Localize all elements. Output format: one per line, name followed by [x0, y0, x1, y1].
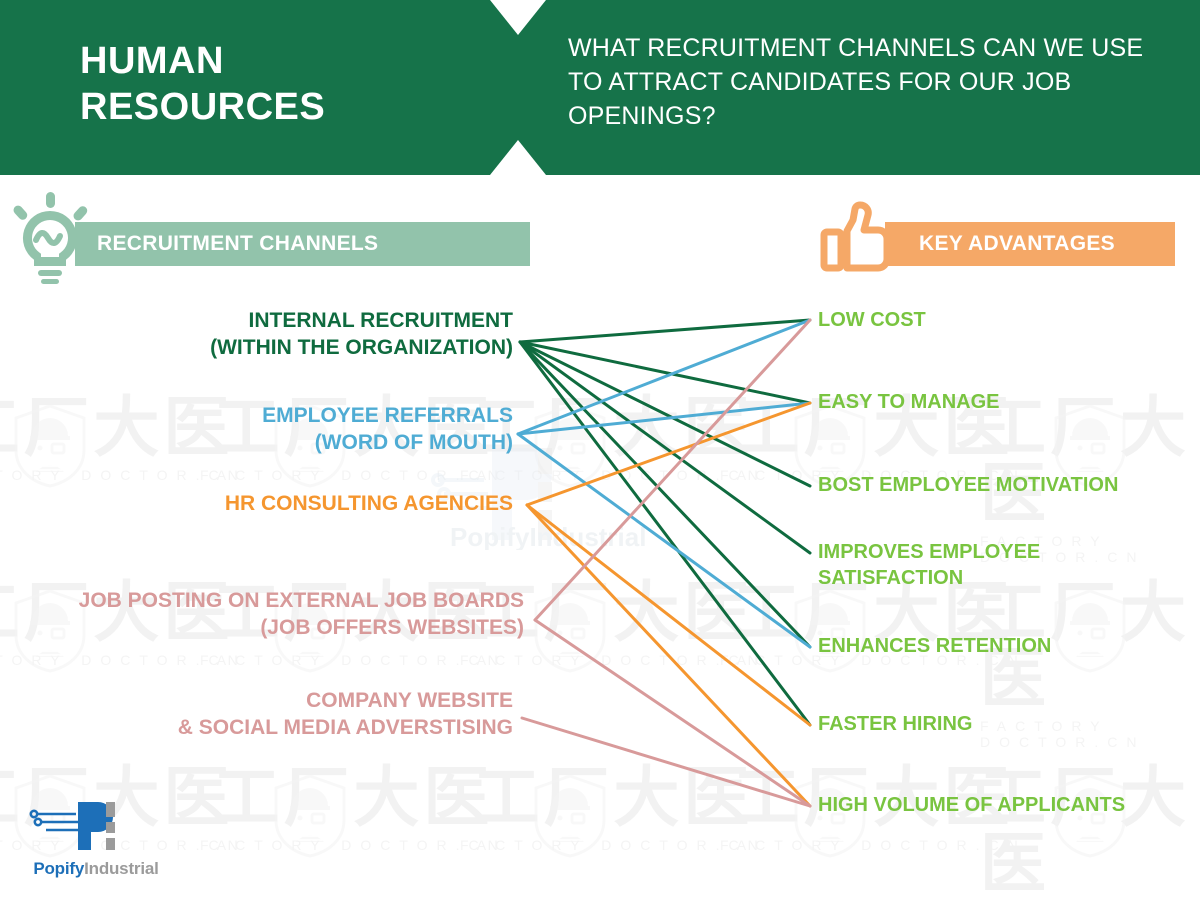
- channel-employee-referrals[interactable]: EMPLOYEE REFERRALS(WORD OF MOUTH): [0, 403, 513, 457]
- connector-hr-consulting-agencies-to-high-volume-of-applicants: [527, 505, 810, 806]
- advantage-improves-employee-satisfaction-line-2: SATISFACTION: [818, 566, 1040, 592]
- advantage-easy-to-manage-line-1: EASY TO MANAGE: [818, 390, 1000, 416]
- section-header-recruitment-channels: RECRUITMENT CHANNELS: [75, 222, 530, 266]
- lightbulb-icon: [8, 192, 92, 284]
- channel-internal-recruitment-line-2: (WITHIN THE ORGANIZATION): [0, 335, 513, 362]
- channel-hr-consulting-agencies-line-1: HR CONSULTING AGENCIES: [0, 491, 513, 518]
- section-header-left-label: RECRUITMENT CHANNELS: [97, 232, 378, 256]
- channel-job-posting-external-line-2: (JOB OFFERS WEBSITES): [0, 615, 524, 642]
- connector-job-posting-external-to-high-volume-of-applicants: [535, 620, 810, 806]
- advantage-enhances-retention[interactable]: ENHANCES RETENTION: [818, 634, 1051, 660]
- connector-internal-recruitment-to-bost-employee-motivation: [520, 342, 810, 486]
- advantage-low-cost-line-1: LOW COST: [818, 308, 926, 334]
- advantage-high-volume-of-applicants[interactable]: HIGH VOLUME OF APPLICANTS: [818, 793, 1125, 819]
- channel-company-website-social-line-1: COMPANY WEBSITE: [0, 688, 513, 715]
- connector-job-posting-external-to-low-cost: [535, 320, 810, 620]
- popify-logo-text: PopifyIndustrial: [16, 859, 176, 879]
- advantage-bost-employee-motivation[interactable]: BOST EMPLOYEE MOTIVATION: [818, 473, 1118, 499]
- page-title: HUMAN RESOURCES: [80, 38, 480, 131]
- header-notch-bottom: [490, 140, 546, 175]
- page-title-line-1: HUMAN: [80, 38, 480, 84]
- advantage-low-cost[interactable]: LOW COST: [818, 308, 926, 334]
- advantage-high-volume-of-applicants-line-1: HIGH VOLUME OF APPLICANTS: [818, 793, 1125, 819]
- channel-employee-referrals-line-1: EMPLOYEE REFERRALS: [0, 403, 513, 430]
- section-header-right-label: KEY ADVANTAGES: [919, 232, 1115, 256]
- connector-internal-recruitment-to-enhances-retention: [520, 342, 810, 647]
- popify-logo-text-primary: Popify: [33, 859, 84, 878]
- channel-internal-recruitment-line-1: INTERNAL RECRUITMENT: [0, 308, 513, 335]
- page-title-line-2: RESOURCES: [80, 84, 480, 130]
- channel-job-posting-external[interactable]: JOB POSTING ON EXTERNAL JOB BOARDS(JOB O…: [0, 588, 524, 642]
- advantage-easy-to-manage[interactable]: EASY TO MANAGE: [818, 390, 1000, 416]
- channel-internal-recruitment[interactable]: INTERNAL RECRUITMENT(WITHIN THE ORGANIZA…: [0, 308, 513, 362]
- thumbs-up-icon: [820, 198, 900, 278]
- advantage-improves-employee-satisfaction-line-1: IMPROVES EMPLOYEE: [818, 540, 1040, 566]
- section-header-key-advantages: KEY ADVANTAGES: [885, 222, 1175, 266]
- popify-industrial-logo: PopifyIndustrial: [16, 800, 176, 879]
- channel-employee-referrals-line-2: (WORD OF MOUTH): [0, 430, 513, 457]
- popify-logo-text-secondary: Industrial: [84, 859, 159, 878]
- header-notch-top: [490, 0, 546, 35]
- header-question: WHAT RECRUITMENT CHANNELS CAN WE USE TO …: [568, 32, 1178, 133]
- channel-hr-consulting-agencies[interactable]: HR CONSULTING AGENCIES: [0, 491, 513, 518]
- channel-company-website-social[interactable]: COMPANY WEBSITE& SOCIAL MEDIA ADVERSTISI…: [0, 688, 513, 742]
- advantage-enhances-retention-line-1: ENHANCES RETENTION: [818, 634, 1051, 660]
- advantage-bost-employee-motivation-line-1: BOST EMPLOYEE MOTIVATION: [818, 473, 1118, 499]
- popify-logo-mark: [16, 800, 176, 852]
- channel-job-posting-external-line-1: JOB POSTING ON EXTERNAL JOB BOARDS: [0, 588, 524, 615]
- connector-employee-referrals-to-low-cost: [518, 320, 810, 434]
- advantage-improves-employee-satisfaction[interactable]: IMPROVES EMPLOYEESATISFACTION: [818, 540, 1040, 591]
- connector-internal-recruitment-to-low-cost: [520, 320, 810, 342]
- advantage-faster-hiring[interactable]: FASTER HIRING: [818, 712, 972, 738]
- advantage-faster-hiring-line-1: FASTER HIRING: [818, 712, 972, 738]
- channel-company-website-social-line-2: & SOCIAL MEDIA ADVERSTISING: [0, 715, 513, 742]
- header-banner: HUMAN RESOURCES WHAT RECRUITMENT CHANNEL…: [0, 0, 1200, 175]
